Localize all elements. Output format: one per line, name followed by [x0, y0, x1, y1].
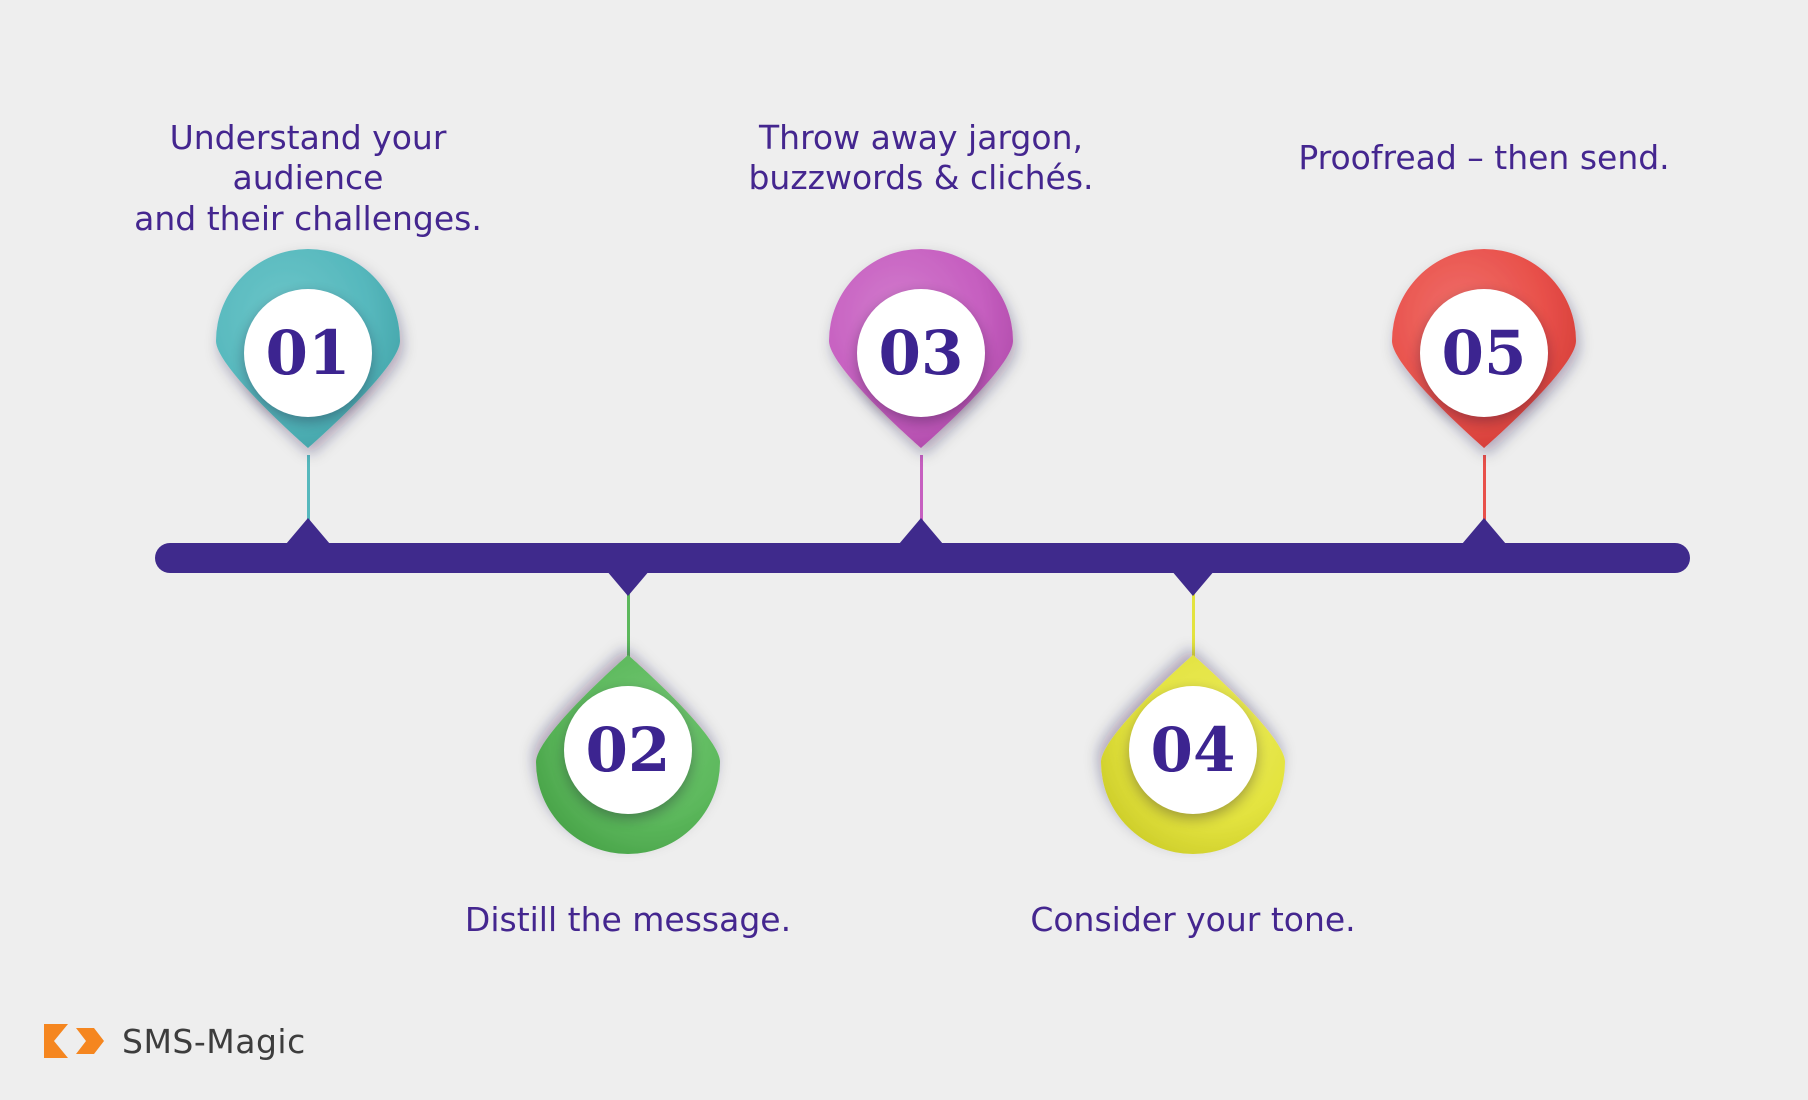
step-pin-03[interactable]: 03 — [826, 258, 1016, 448]
step-pin-04[interactable]: 04 — [1098, 655, 1288, 845]
step-caption-03: Throw away jargon, buzzwords & clichés. — [721, 118, 1121, 199]
step-number-circle-05: 05 — [1420, 289, 1548, 417]
step-caption-02: Distill the message. — [428, 900, 828, 940]
step-number-01: 01 — [266, 323, 351, 384]
step-number-circle-02: 02 — [564, 686, 692, 814]
brand-name: SMS-Magic — [122, 1022, 306, 1061]
step-caption-05: Proofread – then send. — [1284, 138, 1684, 178]
step-number-03: 03 — [879, 323, 964, 384]
timeline-tick-03 — [899, 518, 943, 544]
sms-magic-chevron-icon — [42, 1020, 108, 1062]
step-pin-01[interactable]: 01 — [213, 258, 403, 448]
timeline-tick-05 — [1462, 518, 1506, 544]
step-number-04: 04 — [1151, 720, 1236, 781]
step-caption-01: Understand your audience and their chall… — [108, 118, 508, 239]
timeline-tick-02 — [606, 570, 650, 596]
step-pin-05[interactable]: 05 — [1389, 258, 1579, 448]
step-caption-04: Consider your tone. — [993, 900, 1393, 940]
timeline-tick-01 — [286, 518, 330, 544]
step-number-circle-03: 03 — [857, 289, 985, 417]
step-number-circle-04: 04 — [1129, 686, 1257, 814]
step-number-05: 05 — [1442, 323, 1527, 384]
step-number-circle-01: 01 — [244, 289, 372, 417]
infographic-canvas: Understand your audience and their chall… — [0, 0, 1808, 1100]
brand-logo: SMS-Magic — [42, 1020, 306, 1062]
timeline-tick-04 — [1171, 570, 1215, 596]
step-number-02: 02 — [586, 720, 671, 781]
step-pin-02[interactable]: 02 — [533, 655, 723, 845]
timeline-bar — [155, 543, 1690, 573]
